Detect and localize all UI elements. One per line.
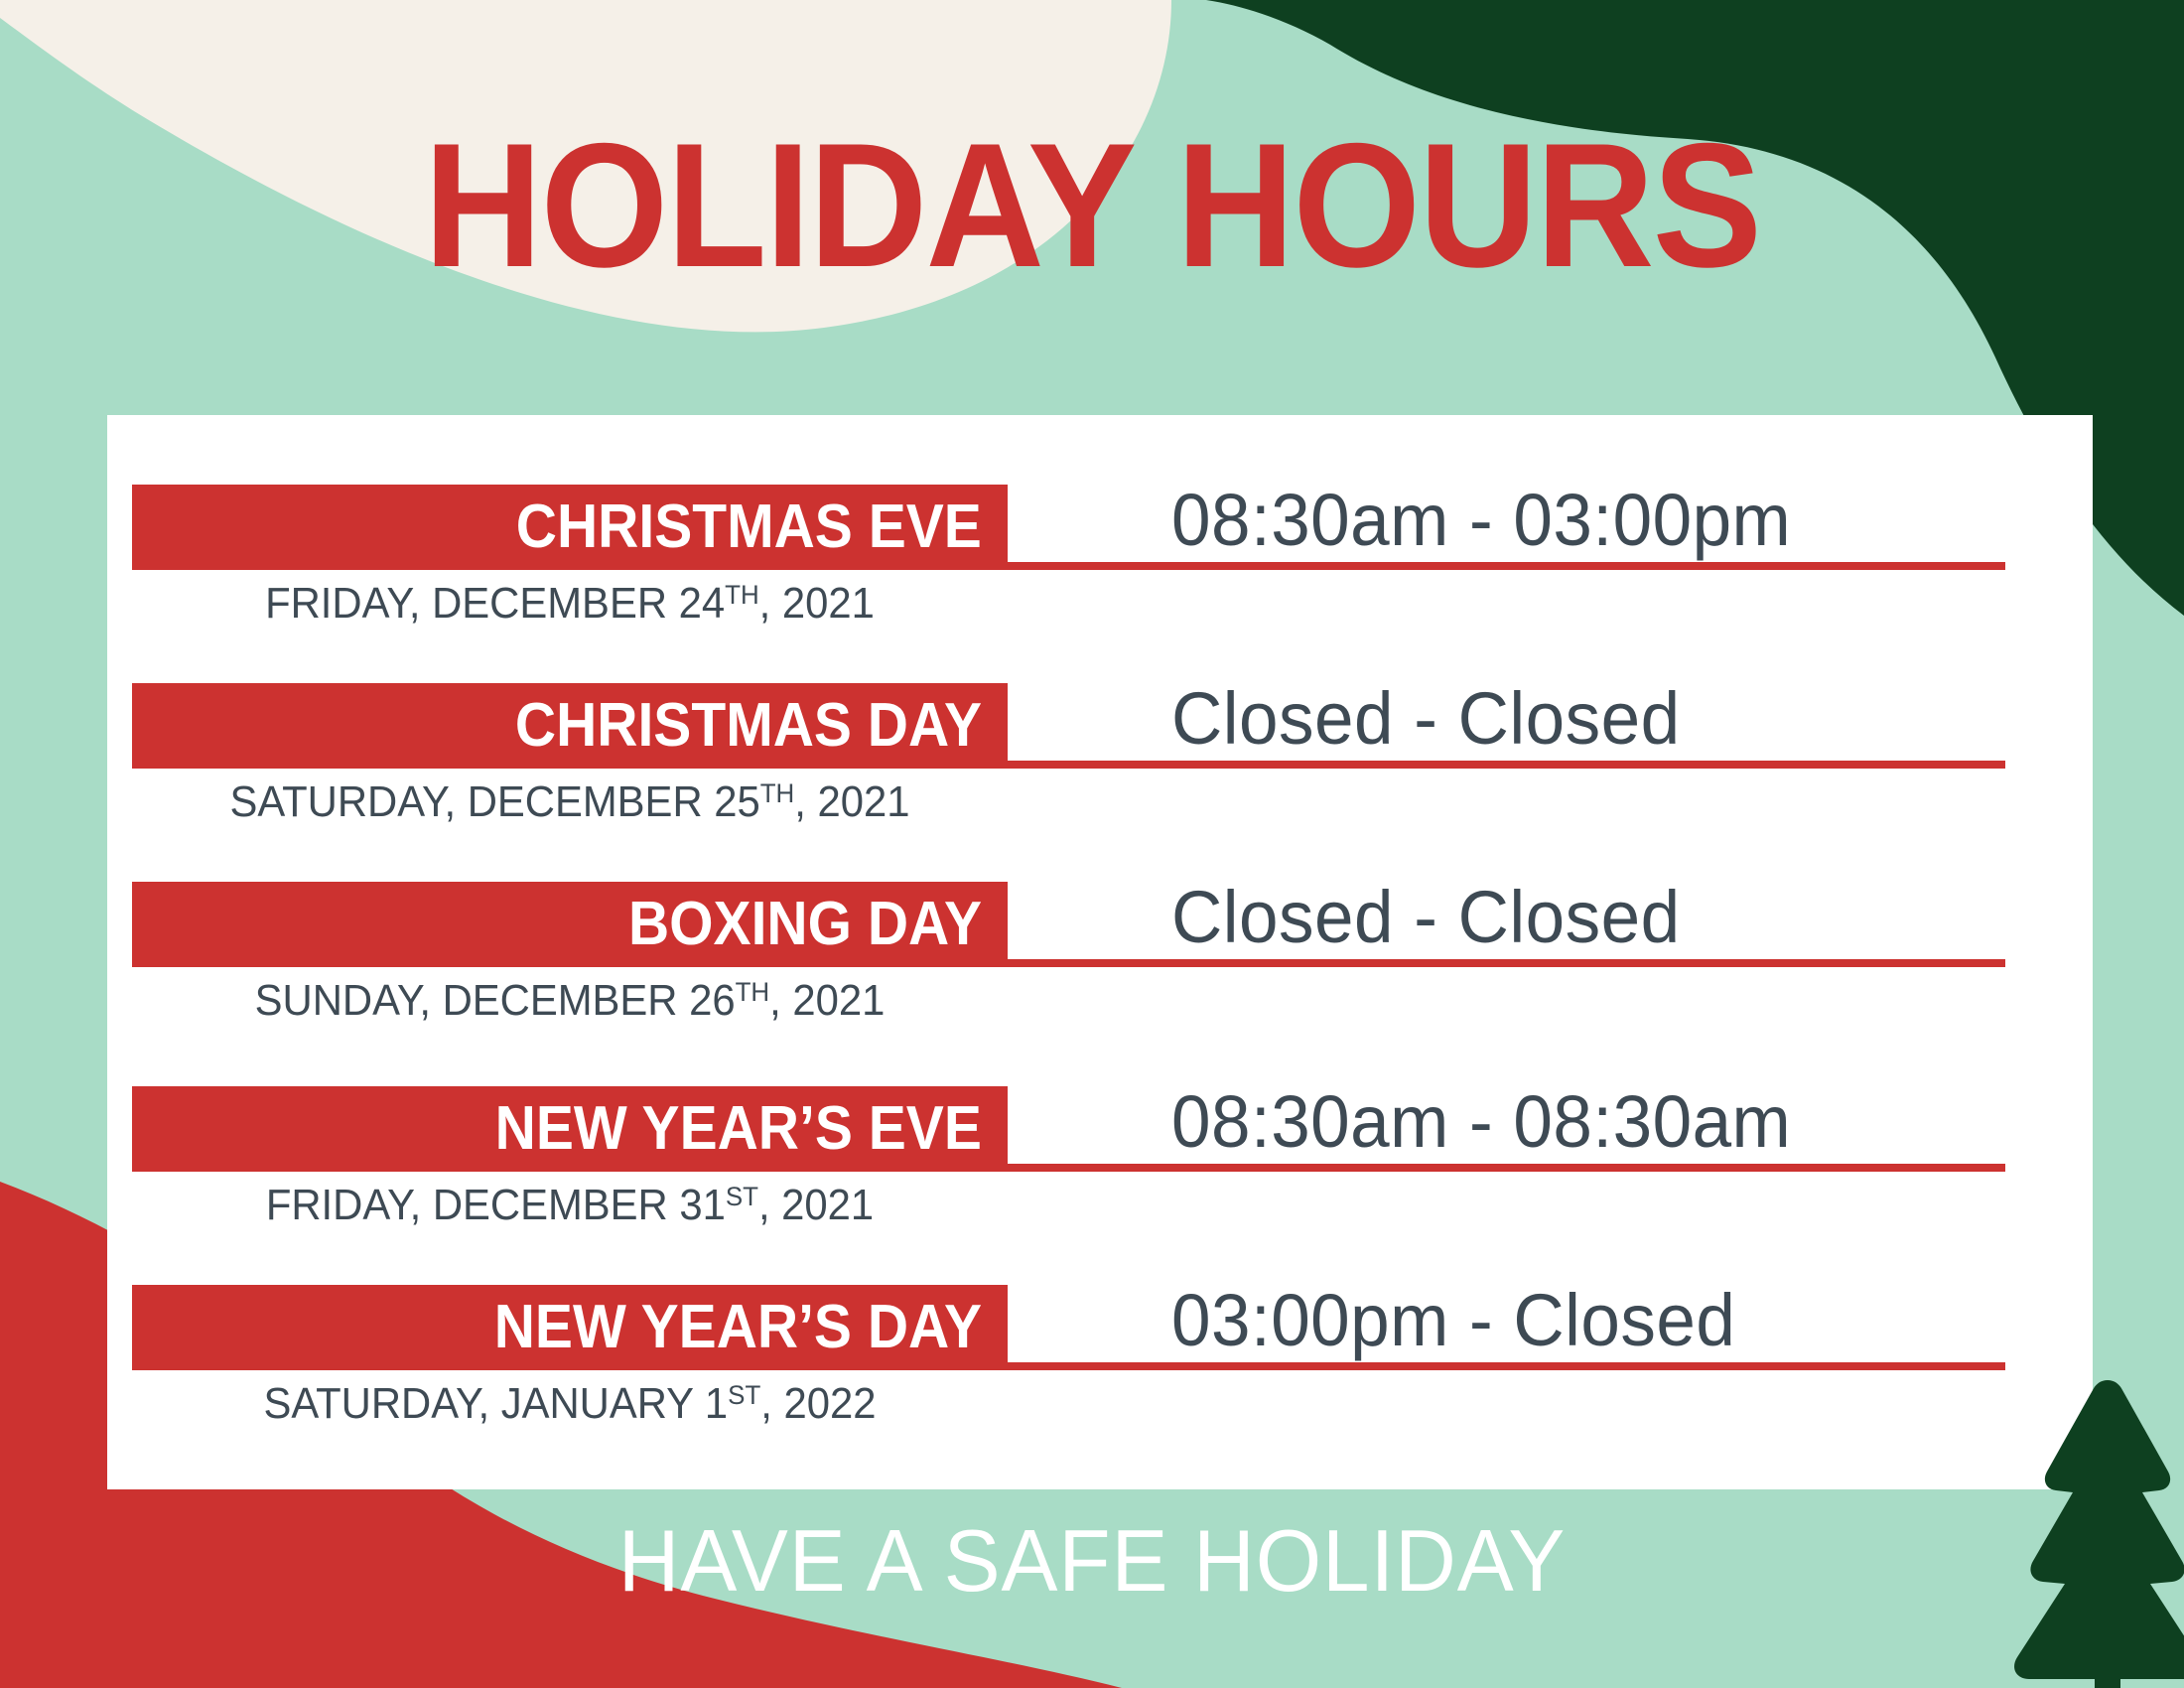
holiday-hours: Closed - Closed (1171, 677, 1681, 761)
row-underline (1008, 1362, 2005, 1370)
table-row: CHRISTMAS EVE FRIDAY, DECEMBER 24TH, 202… (107, 477, 2093, 675)
holiday-name: NEW YEAR’S EVE (495, 1098, 982, 1160)
date-suffix: , 2021 (758, 1181, 874, 1229)
holiday-hours: 08:30am - 03:00pm (1171, 479, 1791, 562)
row-underline (1008, 959, 2005, 967)
date-prefix: SUNDAY, DECEMBER 26 (255, 976, 736, 1025)
holiday-hours: Closed - Closed (1171, 876, 1681, 959)
holiday-hours: 08:30am - 08:30am (1171, 1080, 1791, 1164)
date-prefix: FRIDAY, DECEMBER 24 (265, 579, 725, 628)
date-ordinal: ST (726, 1181, 758, 1211)
tagline: HAVE A SAFE HOLIDAY (33, 1517, 2151, 1605)
table-row: BOXING DAY SUNDAY, DECEMBER 26TH, 2021 C… (107, 874, 2093, 1072)
date-ordinal: TH (760, 777, 795, 808)
date-suffix: , 2022 (760, 1379, 876, 1428)
holiday-name: NEW YEAR’S DAY (494, 1297, 982, 1358)
holiday-date: SATURDAY, DECEMBER 25TH, 2021 (154, 778, 986, 826)
holiday-banner: CHRISTMAS DAY (132, 683, 1008, 769)
holiday-hours-poster: HOLIDAY HOURS CHRISTMAS EVE FRIDAY, DECE… (0, 0, 2184, 1688)
holiday-date: SATURDAY, JANUARY 1ST, 2022 (154, 1380, 986, 1428)
date-ordinal: ST (728, 1379, 760, 1410)
table-row: NEW YEAR’S DAY SATURDAY, JANUARY 1ST, 20… (107, 1277, 2093, 1476)
holiday-name: CHRISTMAS EVE (516, 496, 982, 558)
holiday-banner: CHRISTMAS EVE (132, 485, 1008, 570)
holiday-banner: NEW YEAR’S DAY (132, 1285, 1008, 1370)
holiday-banner: NEW YEAR’S EVE (132, 1086, 1008, 1172)
date-suffix: , 2021 (769, 976, 885, 1025)
table-row: CHRISTMAS DAY SATURDAY, DECEMBER 25TH, 2… (107, 675, 2093, 874)
date-prefix: FRIDAY, DECEMBER 31 (266, 1181, 726, 1229)
row-underline (1008, 761, 2005, 769)
date-ordinal: TH (725, 579, 759, 610)
date-ordinal: TH (736, 976, 770, 1007)
holiday-name: CHRISTMAS DAY (515, 695, 982, 757)
holiday-date: FRIDAY, DECEMBER 31ST, 2021 (154, 1182, 986, 1229)
holiday-date: SUNDAY, DECEMBER 26TH, 2021 (154, 977, 986, 1025)
date-prefix: SATURDAY, JANUARY 1 (263, 1379, 728, 1428)
holiday-hours: 03:00pm - Closed (1171, 1279, 1735, 1362)
table-row: NEW YEAR’S EVE FRIDAY, DECEMBER 31ST, 20… (107, 1078, 2093, 1277)
date-prefix: SATURDAY, DECEMBER 25 (229, 777, 759, 826)
row-underline (1008, 1164, 2005, 1172)
date-suffix: , 2021 (794, 777, 909, 826)
holiday-banner: BOXING DAY (132, 882, 1008, 967)
row-underline (1008, 562, 2005, 570)
page-title: HOLIDAY HOURS (76, 117, 2108, 294)
date-suffix: , 2021 (759, 579, 875, 628)
schedule-card: CHRISTMAS EVE FRIDAY, DECEMBER 24TH, 202… (107, 415, 2093, 1489)
holiday-date: FRIDAY, DECEMBER 24TH, 2021 (154, 580, 986, 628)
holiday-name: BOXING DAY (628, 894, 982, 955)
